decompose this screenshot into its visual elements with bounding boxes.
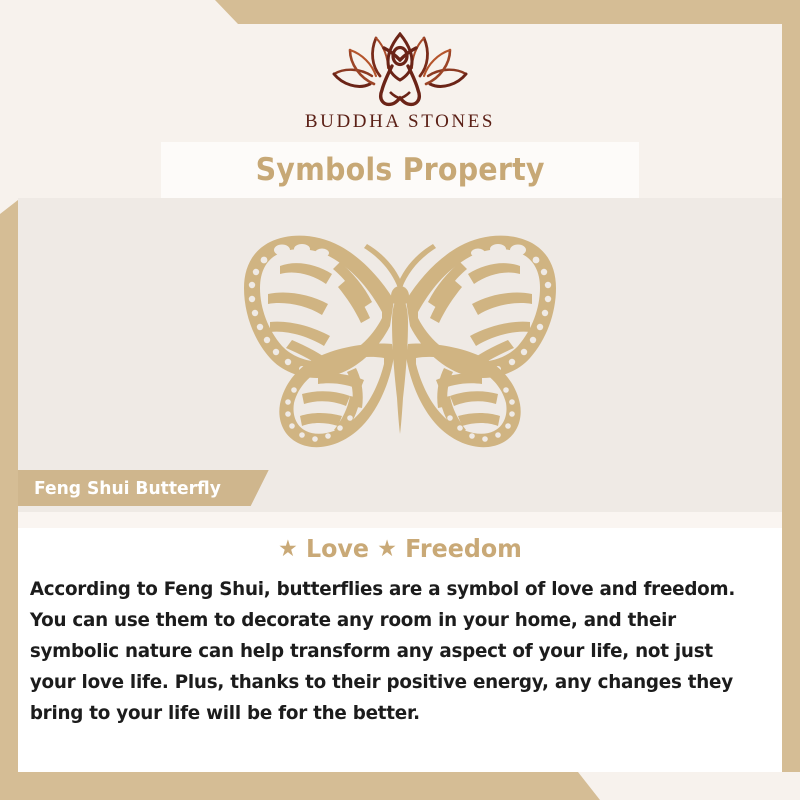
star-middle-icon: ★ (377, 536, 397, 562)
page-title: Symbols Property (255, 152, 544, 188)
frame-top-band (0, 0, 800, 24)
frame-left-band (0, 200, 18, 800)
brand-name: BUDDHA STONES (305, 111, 495, 133)
frame-right-band (782, 0, 800, 772)
subtitle-spacer (18, 512, 782, 528)
feng-shui-butterfly-tab[interactable]: Feng Shui Butterfly (18, 470, 269, 506)
brand-header: BUDDHA STONES (18, 24, 782, 142)
feature-image-panel (18, 198, 782, 470)
poster-card: BUDDHA STONES Symbols Property (18, 24, 782, 772)
keyword-freedom: Freedom (405, 534, 522, 563)
keywords-heading: ★ Love ★ Freedom (37, 528, 763, 563)
title-band: Symbols Property (18, 142, 782, 198)
frame-bottom-band (0, 772, 800, 800)
title-bar: Symbols Property (161, 142, 639, 198)
tab-label: Feng Shui Butterfly (34, 478, 221, 499)
butterfly-icon (222, 218, 578, 450)
tab-strip: Feng Shui Butterfly (18, 470, 782, 512)
star-left-icon: ★ (278, 536, 298, 562)
poster-page: BUDDHA STONES Symbols Property (0, 0, 800, 800)
lotus-meditation-icon (326, 32, 474, 110)
description-text: According to Feng Shui, butterflies are … (18, 574, 771, 729)
keyword-love: Love (306, 534, 369, 563)
description-panel: ★ Love ★ Freedom According to Feng Shui,… (18, 512, 782, 772)
